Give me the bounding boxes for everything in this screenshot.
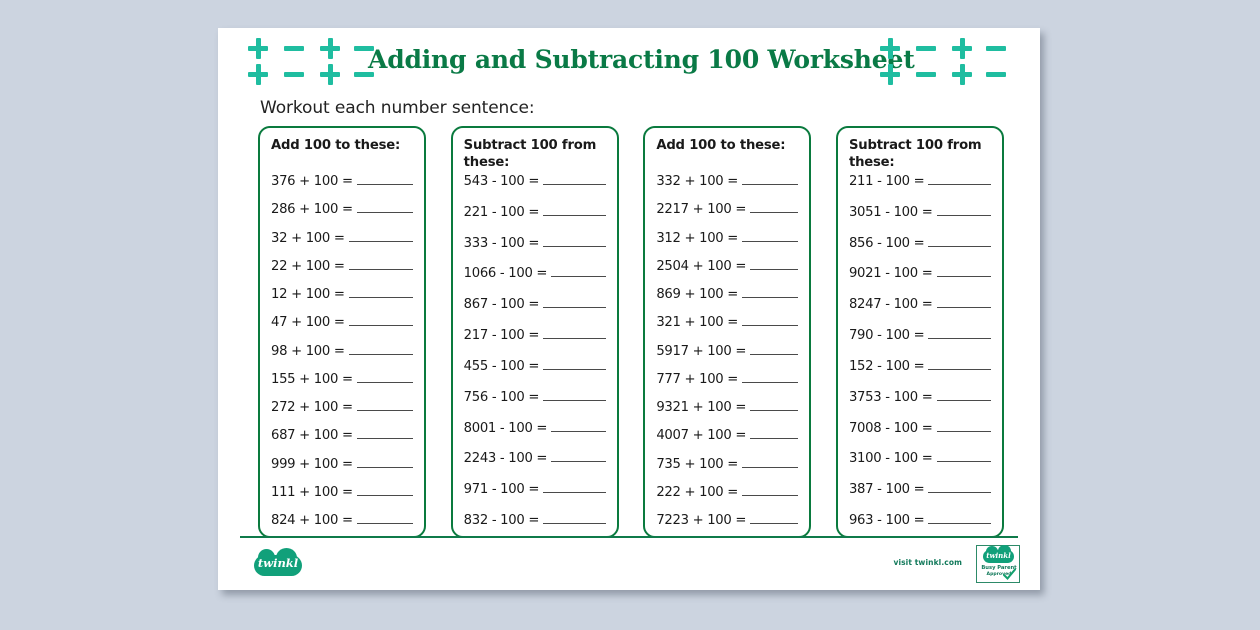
answer-blank[interactable] <box>357 201 413 213</box>
question-expression: 217 - 100 = <box>464 328 539 343</box>
question-row: 543 - 100 = <box>464 173 606 189</box>
question-box-heading: Add 100 to these: <box>656 137 798 171</box>
question-row: 735 + 100 = <box>656 456 798 472</box>
question-expression: 5917 + 100 = <box>656 344 746 359</box>
question-expression: 8247 - 100 = <box>849 297 933 312</box>
answer-blank[interactable] <box>551 265 605 277</box>
question-row: 8247 - 100 = <box>849 296 991 312</box>
question-row: 856 - 100 = <box>849 235 991 251</box>
answer-blank[interactable] <box>543 296 606 308</box>
question-expression: 387 - 100 = <box>849 482 924 497</box>
question-expression: 221 - 100 = <box>464 205 539 220</box>
answer-blank[interactable] <box>543 512 606 524</box>
question-row: 312 + 100 = <box>656 230 798 246</box>
worksheet-page: Adding and Subtracting 100 Worksheet <box>218 28 1040 590</box>
answer-blank[interactable] <box>742 230 798 242</box>
question-row: 777 + 100 = <box>656 371 798 387</box>
answer-blank[interactable] <box>543 481 606 493</box>
question-expression: 824 + 100 = <box>271 513 353 528</box>
question-row: 5917 + 100 = <box>656 343 798 359</box>
decorative-signs-left <box>242 36 376 88</box>
question-expression: 32 + 100 = <box>271 231 345 246</box>
question-expression: 111 + 100 = <box>271 485 353 500</box>
question-row: 155 + 100 = <box>271 371 413 387</box>
question-list: 211 - 100 = 3051 - 100 = 856 - 100 = 902… <box>849 173 991 528</box>
answer-blank[interactable] <box>928 235 991 247</box>
answer-blank[interactable] <box>937 265 991 277</box>
badge-logo-text: twinkl <box>983 551 1014 560</box>
question-row: 387 - 100 = <box>849 481 991 497</box>
question-expression: 7223 + 100 = <box>656 513 746 528</box>
question-row: 999 + 100 = <box>271 456 413 472</box>
answer-blank[interactable] <box>928 327 991 339</box>
question-expression: 321 + 100 = <box>656 315 738 330</box>
answer-blank[interactable] <box>543 358 606 370</box>
question-expression: 3753 - 100 = <box>849 390 933 405</box>
question-expression: 152 - 100 = <box>849 359 924 374</box>
question-row: 376 + 100 = <box>271 173 413 189</box>
answer-blank[interactable] <box>543 204 606 216</box>
answer-blank[interactable] <box>928 173 991 185</box>
question-expression: 222 + 100 = <box>656 485 738 500</box>
question-list: 332 + 100 = 2217 + 100 = 312 + 100 = 250… <box>656 173 798 528</box>
question-expression: 687 + 100 = <box>271 428 353 443</box>
question-list: 543 - 100 = 221 - 100 = 333 - 100 = 1066… <box>464 173 606 528</box>
question-expression: 856 - 100 = <box>849 236 924 251</box>
visit-twinkl-link[interactable]: visit twinkl.com <box>893 558 962 567</box>
question-row: 867 - 100 = <box>464 296 606 312</box>
question-row: 221 - 100 = <box>464 204 606 220</box>
question-row: 1066 - 100 = <box>464 265 606 281</box>
question-expression: 832 - 100 = <box>464 513 539 528</box>
answer-blank[interactable] <box>937 420 991 432</box>
question-expression: 1066 - 100 = <box>464 266 548 281</box>
answer-blank[interactable] <box>750 399 798 411</box>
answer-blank[interactable] <box>750 258 798 270</box>
question-row: 9321 + 100 = <box>656 399 798 415</box>
question-row: 286 + 100 = <box>271 201 413 217</box>
question-row: 790 - 100 = <box>849 327 991 343</box>
answer-blank[interactable] <box>543 235 606 247</box>
question-row: 9021 - 100 = <box>849 265 991 281</box>
answer-blank[interactable] <box>750 201 798 213</box>
question-row: 32 + 100 = <box>271 230 413 246</box>
question-row: 98 + 100 = <box>271 343 413 359</box>
answer-blank[interactable] <box>551 420 605 432</box>
question-expression: 8001 - 100 = <box>464 421 548 436</box>
question-expression: 332 + 100 = <box>656 174 738 189</box>
question-row: 2217 + 100 = <box>656 201 798 217</box>
question-row: 222 + 100 = <box>656 484 798 500</box>
question-expression: 272 + 100 = <box>271 400 353 415</box>
answer-blank[interactable] <box>937 450 991 462</box>
question-columns: Add 100 to these: 376 + 100 = 286 + 100 … <box>258 126 1004 538</box>
answer-blank[interactable] <box>937 389 991 401</box>
question-expression: 9321 + 100 = <box>656 400 746 415</box>
question-row: 4007 + 100 = <box>656 427 798 443</box>
answer-blank[interactable] <box>750 512 798 524</box>
question-expression: 22 + 100 = <box>271 259 345 274</box>
answer-blank[interactable] <box>357 484 413 496</box>
question-expression: 2217 + 100 = <box>656 202 746 217</box>
answer-blank[interactable] <box>349 258 413 270</box>
question-box: Add 100 to these: 376 + 100 = 286 + 100 … <box>258 126 426 538</box>
instruction-text: Workout each number sentence: <box>260 98 534 118</box>
question-row: 2504 + 100 = <box>656 258 798 274</box>
question-expression: 455 - 100 = <box>464 359 539 374</box>
question-row: 47 + 100 = <box>271 314 413 330</box>
question-box-heading: Add 100 to these: <box>271 137 413 171</box>
answer-blank[interactable] <box>742 314 798 326</box>
question-row: 321 + 100 = <box>656 314 798 330</box>
question-expression: 3100 - 100 = <box>849 451 933 466</box>
question-expression: 286 + 100 = <box>271 202 353 217</box>
question-row: 22 + 100 = <box>271 258 413 274</box>
question-expression: 211 - 100 = <box>849 174 924 189</box>
question-row: 963 - 100 = <box>849 512 991 528</box>
question-expression: 735 + 100 = <box>656 457 738 472</box>
question-expression: 971 - 100 = <box>464 482 539 497</box>
answer-blank[interactable] <box>349 230 413 242</box>
question-row: 152 - 100 = <box>849 358 991 374</box>
answer-blank[interactable] <box>357 371 413 383</box>
question-expression: 999 + 100 = <box>271 457 353 472</box>
question-expression: 4007 + 100 = <box>656 428 746 443</box>
question-row: 3051 - 100 = <box>849 204 991 220</box>
question-expression: 7008 - 100 = <box>849 421 933 436</box>
question-expression: 98 + 100 = <box>271 344 345 359</box>
answer-blank[interactable] <box>357 512 413 524</box>
question-row: 12 + 100 = <box>271 286 413 302</box>
question-box-heading: Subtract 100 from these: <box>849 137 991 171</box>
question-row: 7223 + 100 = <box>656 512 798 528</box>
question-row: 756 - 100 = <box>464 389 606 405</box>
question-box: Subtract 100 from these: 211 - 100 = 305… <box>836 126 1004 538</box>
answer-blank[interactable] <box>357 399 413 411</box>
question-expression: 756 - 100 = <box>464 390 539 405</box>
question-row: 869 + 100 = <box>656 286 798 302</box>
answer-blank[interactable] <box>349 343 413 355</box>
question-expression: 790 - 100 = <box>849 328 924 343</box>
answer-blank[interactable] <box>928 358 991 370</box>
question-row: 2243 - 100 = <box>464 450 606 466</box>
answer-blank[interactable] <box>543 173 606 185</box>
screenshot-root: Adding and Subtracting 100 Worksheet <box>0 0 1260 630</box>
footer-divider <box>240 536 1018 538</box>
question-row: 7008 - 100 = <box>849 420 991 436</box>
question-row: 824 + 100 = <box>271 512 413 528</box>
answer-blank[interactable] <box>742 371 798 383</box>
question-expression: 867 - 100 = <box>464 297 539 312</box>
question-expression: 12 + 100 = <box>271 287 345 302</box>
question-row: 971 - 100 = <box>464 481 606 497</box>
answer-blank[interactable] <box>349 314 413 326</box>
question-expression: 963 - 100 = <box>849 513 924 528</box>
question-expression: 777 + 100 = <box>656 372 738 387</box>
question-row: 272 + 100 = <box>271 399 413 415</box>
answer-blank[interactable] <box>349 286 413 298</box>
question-box: Add 100 to these: 332 + 100 = 2217 + 100… <box>643 126 811 538</box>
twinkl-logo-text: twinkl <box>254 556 302 570</box>
busy-parent-approved-badge: twinkl Busy Parent Approved <box>976 545 1020 583</box>
answer-blank[interactable] <box>928 481 991 493</box>
answer-blank[interactable] <box>742 286 798 298</box>
question-row: 217 - 100 = <box>464 327 606 343</box>
question-expression: 333 - 100 = <box>464 236 539 251</box>
question-row: 455 - 100 = <box>464 358 606 374</box>
worksheet-footer: twinkl visit twinkl.com twinkl Busy Pare… <box>218 542 1040 588</box>
answer-blank[interactable] <box>937 204 991 216</box>
question-expression: 312 + 100 = <box>656 231 738 246</box>
answer-blank[interactable] <box>742 456 798 468</box>
answer-blank[interactable] <box>543 327 606 339</box>
decorative-signs-right <box>874 36 1008 88</box>
answer-blank[interactable] <box>937 296 991 308</box>
question-row: 211 - 100 = <box>849 173 991 189</box>
question-list: 376 + 100 = 286 + 100 = 32 + 100 = 22 + … <box>271 173 413 528</box>
question-expression: 543 - 100 = <box>464 174 539 189</box>
answer-blank[interactable] <box>357 456 413 468</box>
question-expression: 376 + 100 = <box>271 174 353 189</box>
page-title: Adding and Subtracting 100 Worksheet <box>368 40 876 80</box>
question-expression: 2243 - 100 = <box>464 451 548 466</box>
question-row: 111 + 100 = <box>271 484 413 500</box>
question-row: 332 + 100 = <box>656 173 798 189</box>
answer-blank[interactable] <box>357 427 413 439</box>
answer-blank[interactable] <box>750 427 798 439</box>
question-row: 687 + 100 = <box>271 427 413 443</box>
answer-blank[interactable] <box>551 450 605 462</box>
twinkl-logo[interactable]: twinkl <box>254 552 302 578</box>
question-expression: 3051 - 100 = <box>849 205 933 220</box>
answer-blank[interactable] <box>543 389 606 401</box>
question-row: 8001 - 100 = <box>464 420 606 436</box>
question-expression: 9021 - 100 = <box>849 266 933 281</box>
worksheet-header: Adding and Subtracting 100 Worksheet <box>218 28 1040 90</box>
question-row: 3753 - 100 = <box>849 389 991 405</box>
question-box-heading: Subtract 100 from these: <box>464 137 606 171</box>
question-expression: 2504 + 100 = <box>656 259 746 274</box>
question-row: 3100 - 100 = <box>849 450 991 466</box>
question-expression: 47 + 100 = <box>271 315 345 330</box>
answer-blank[interactable] <box>750 343 798 355</box>
question-box: Subtract 100 from these: 543 - 100 = 221… <box>451 126 619 538</box>
answer-blank[interactable] <box>742 173 798 185</box>
question-row: 832 - 100 = <box>464 512 606 528</box>
check-icon <box>1003 568 1016 581</box>
question-row: 333 - 100 = <box>464 235 606 251</box>
question-expression: 869 + 100 = <box>656 287 738 302</box>
answer-blank[interactable] <box>742 484 798 496</box>
question-expression: 155 + 100 = <box>271 372 353 387</box>
answer-blank[interactable] <box>357 173 413 185</box>
answer-blank[interactable] <box>928 512 991 524</box>
